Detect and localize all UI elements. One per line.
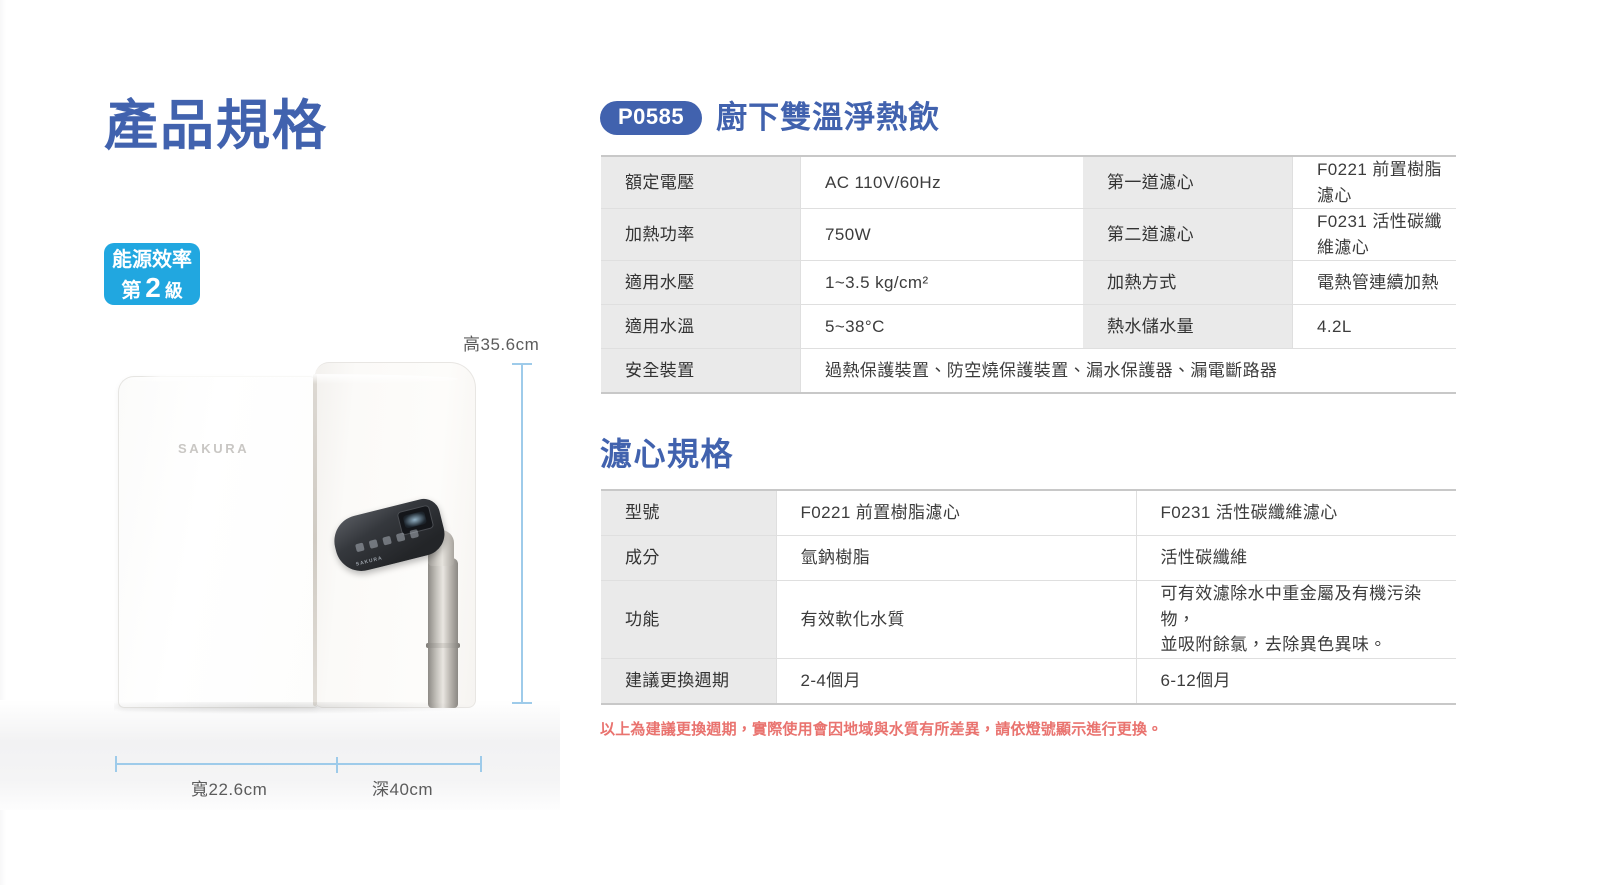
filter-spec-table: 型號 F0221 前置樹脂濾心 F0231 活性碳纖維濾心 成分 氫鈉樹脂 活性…: [601, 489, 1456, 705]
width-dimension-label: 寬22.6cm: [191, 775, 267, 800]
spec-value: 750W: [801, 209, 1084, 261]
energy-badge-unit: 級: [165, 276, 183, 306]
height-dimension-label: 高35.6cm: [463, 330, 539, 355]
spec-key: 適用水壓: [601, 261, 801, 305]
product-body-edge: [313, 374, 317, 706]
model-name: 廚下雙溫淨熱飲: [716, 100, 940, 136]
filter1-value: 氫鈉樹脂: [776, 536, 1136, 581]
spec-value: AC 110V/60Hz: [801, 156, 1084, 209]
control-panel-brand: SAKURA: [355, 555, 383, 567]
height-dimension-cap-bottom: [512, 702, 532, 704]
spec-key: 安全裝置: [601, 349, 801, 394]
width-depth-dimension-tick: [336, 757, 338, 773]
model-code-badge: P0585: [600, 101, 702, 135]
product-image: SAKURA SAKURA: [110, 358, 510, 713]
filter2-value: 可有效濾除水中重金屬及有機污染物， 並吸附餘氯，去除異色異味。: [1136, 581, 1456, 659]
spec-value: 過熱保護裝置、防空燒保護裝置、漏水保護器、漏電斷路器: [801, 349, 1457, 394]
filter-section-title: 濾心規格: [600, 434, 734, 474]
spec-key: 第二道濾心: [1083, 209, 1293, 261]
panel-key: [369, 539, 379, 549]
right-panel: P0585 廚下雙溫淨熱飲 額定電壓 AC 110V/60Hz 第一道濾心 F0…: [600, 0, 1600, 885]
product-brand-logo: SAKURA: [178, 441, 249, 456]
table-row: 功能 有效軟化水質 可有效濾除水中重金屬及有機污染物， 並吸附餘氯，去除異色異味…: [601, 581, 1456, 659]
panel-key: [355, 543, 365, 553]
energy-badge-prefix: 第: [121, 276, 141, 306]
filter-key: 功能: [601, 581, 776, 659]
filter2-value: F0231 活性碳纖維濾心: [1136, 490, 1456, 536]
filter-key: 型號: [601, 490, 776, 536]
filter-key: 建議更換週期: [601, 658, 776, 704]
page-title: 產品規格: [104, 98, 328, 155]
control-panel-buttons: [354, 524, 424, 556]
spec-value: 電熱管連續加熱: [1293, 261, 1457, 305]
faucet-spout: [428, 558, 458, 708]
filter1-value: 2-4個月: [776, 658, 1136, 704]
panel-key: [382, 536, 392, 546]
table-row: 適用水壓 1~3.5 kg/cm² 加熱方式 電熱管連續加熱: [601, 261, 1456, 305]
depth-dimension-cap-right: [480, 756, 482, 772]
filter2-value-line1: 可有效濾除水中重金屬及有機污染物，: [1161, 581, 1457, 632]
table-row-safety: 安全裝置 過熱保護裝置、防空燒保護裝置、漏水保護器、漏電斷路器: [601, 349, 1456, 394]
filter2-value: 活性碳纖維: [1136, 536, 1456, 581]
spec-key: 加熱功率: [601, 209, 801, 261]
panel-key: [409, 529, 419, 539]
spec-value: 4.2L: [1293, 305, 1457, 349]
table-row: 型號 F0221 前置樹脂濾心 F0231 活性碳纖維濾心: [601, 490, 1456, 536]
product-top-highlight: [128, 374, 458, 384]
table-row: 額定電壓 AC 110V/60Hz 第一道濾心 F0221 前置樹脂濾心: [601, 156, 1456, 209]
filter-key: 成分: [601, 536, 776, 581]
table-row: 建議更換週期 2-4個月 6-12個月: [601, 658, 1456, 704]
panel-key: [396, 532, 406, 542]
width-depth-dimension-line: [115, 763, 482, 765]
spec-key: 熱水儲水量: [1083, 305, 1293, 349]
energy-badge-grade: 2: [145, 273, 161, 303]
product-body-front: [118, 376, 319, 708]
spec-key: 第一道濾心: [1083, 156, 1293, 209]
filter2-value-line2: 並吸附餘氯，去除異色異味。: [1161, 632, 1457, 658]
faucet-spout-ring: [426, 643, 460, 648]
spec-key: 適用水溫: [601, 305, 801, 349]
spec-value: 1~3.5 kg/cm²: [801, 261, 1084, 305]
spec-value: F0231 活性碳纖維濾心: [1293, 209, 1457, 261]
filter2-value: 6-12個月: [1136, 658, 1456, 704]
spec-value: F0221 前置樹脂濾心: [1293, 156, 1457, 209]
model-header: P0585 廚下雙溫淨熱飲: [600, 100, 940, 136]
energy-badge-line1: 能源效率: [104, 248, 200, 273]
table-row: 成分 氫鈉樹脂 活性碳纖維: [601, 536, 1456, 581]
filter2-value-lines: 可有效濾除水中重金屬及有機污染物， 並吸附餘氯，去除異色異味。: [1161, 581, 1457, 658]
table-row: 適用水溫 5~38°C 熱水儲水量 4.2L: [601, 305, 1456, 349]
energy-badge-grade-line: 第 2 級: [104, 273, 200, 306]
spec-key: 加熱方式: [1083, 261, 1293, 305]
product-shadow: [114, 702, 474, 714]
depth-dimension-label: 深40cm: [372, 775, 433, 800]
spec-key: 額定電壓: [601, 156, 801, 209]
filter-replacement-note: 以上為建議更換週期，實際使用會因地域與水質有所差異，請依燈號顯示進行更換。: [600, 718, 1162, 739]
spec-value: 5~38°C: [801, 305, 1084, 349]
energy-efficiency-badge: 能源效率 第 2 級: [104, 243, 200, 305]
height-dimension-line: [521, 363, 523, 704]
electrical-spec-table: 額定電壓 AC 110V/60Hz 第一道濾心 F0221 前置樹脂濾心 加熱功…: [601, 155, 1456, 394]
left-panel: 產品規格 能源效率 第 2 級 SAKURA: [0, 0, 580, 885]
filter1-value: 有效軟化水質: [776, 581, 1136, 659]
filter1-value: F0221 前置樹脂濾心: [776, 490, 1136, 536]
table-row: 加熱功率 750W 第二道濾心 F0231 活性碳纖維濾心: [601, 209, 1456, 261]
